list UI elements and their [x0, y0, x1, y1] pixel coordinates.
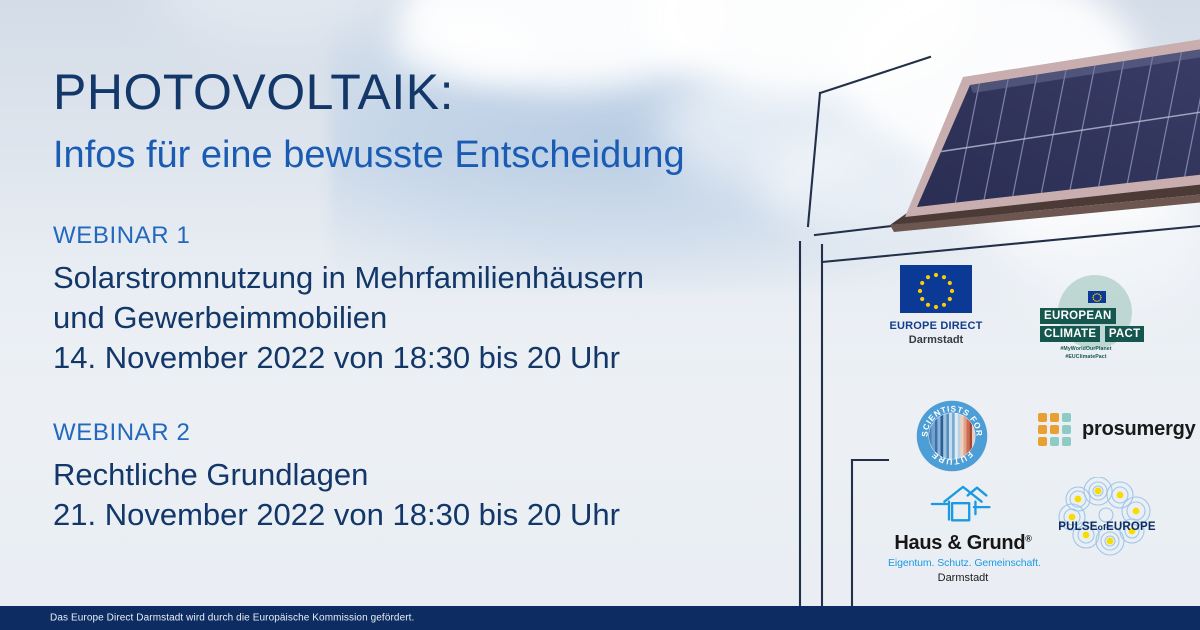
climate-pact-line1: EUROPEAN [1040, 308, 1116, 324]
haus-und-grund-claim: Eigentum. Schutz. Gemeinschaft. [888, 557, 1038, 569]
pulse-of-europe-wordmark: PULSEofEUROPE [1052, 521, 1162, 533]
nine-square-grid-icon [1038, 413, 1071, 446]
haus-und-grund-name: Haus & Grund® [888, 532, 1038, 555]
eu-flag-icon [1088, 291, 1106, 303]
ripple-dots-icon [1052, 477, 1162, 557]
footer-text: Das Europe Direct Darmstadt wird durch d… [50, 613, 414, 624]
warming-stripes-icon: SCIENTISTS FOR FUTURE [916, 400, 988, 472]
webinar-1-title-line1: Solarstromnutzung in Mehrfamilienhäusern [53, 258, 644, 298]
europe-direct-city: Darmstadt [881, 334, 991, 346]
webinar-2-datetime: 21. November 2022 von 18:30 bis 20 Uhr [53, 495, 620, 535]
house-outline-icon [924, 483, 1002, 525]
webinar-1-kicker: WEBINAR 1 [53, 222, 644, 250]
webinar-1-datetime: 14. November 2022 von 18:30 bis 20 Uhr [53, 338, 644, 378]
webinar-1-title-line2: und Gewerbeimmobilien [53, 298, 644, 338]
webinar-2-title-line1: Rechtliche Grundlagen [53, 455, 620, 495]
webinar-2-kicker: WEBINAR 2 [53, 419, 620, 447]
europe-direct-name: EUROPE DIRECT [881, 320, 991, 332]
logo-scientists-for-future: SCIENTISTS FOR FUTURE [916, 400, 988, 477]
logo-prosumergy: prosumergy [1038, 413, 1196, 446]
page-title: PHOTOVOLTAIK: [53, 66, 454, 119]
partner-logos: EUROPE DIRECT Darmstadt EUROPEAN [880, 265, 1180, 585]
solar-panel-icon [795, 25, 1200, 255]
climate-pact-hashtag-1: #MyWorldOurPlanet [1040, 346, 1132, 354]
climate-pact-hashtag-2: #EUClimatePact [1040, 354, 1132, 362]
logo-haus-und-grund: Haus & Grund® Eigentum. Schutz. Gemeinsc… [888, 483, 1038, 584]
page-subtitle: Infos für eine bewusste Entscheidung [53, 134, 685, 177]
webinar-2-block: WEBINAR 2 Rechtliche Grundlagen 21. Nove… [53, 419, 620, 535]
logo-pulse-of-europe: PULSEofEUROPE [1052, 477, 1162, 557]
eu-flag-icon [900, 265, 972, 313]
haus-und-grund-city: Darmstadt [888, 572, 1038, 584]
climate-pact-line2: CLIMATE [1040, 326, 1100, 342]
europe-direct-caption: EUROPE DIRECT Darmstadt [881, 320, 991, 346]
logo-europe-direct: EUROPE DIRECT Darmstadt [900, 265, 991, 346]
climate-pact-line3: PACT [1105, 326, 1145, 342]
webinar-1-block: WEBINAR 1 Solarstromnutzung in Mehrfamil… [53, 222, 644, 378]
poster-canvas: PHOTOVOLTAIK: Infos für eine bewusste En… [0, 0, 1200, 630]
footer-bar: Das Europe Direct Darmstadt wird durch d… [0, 606, 1200, 630]
prosumergy-name: prosumergy [1082, 418, 1196, 441]
